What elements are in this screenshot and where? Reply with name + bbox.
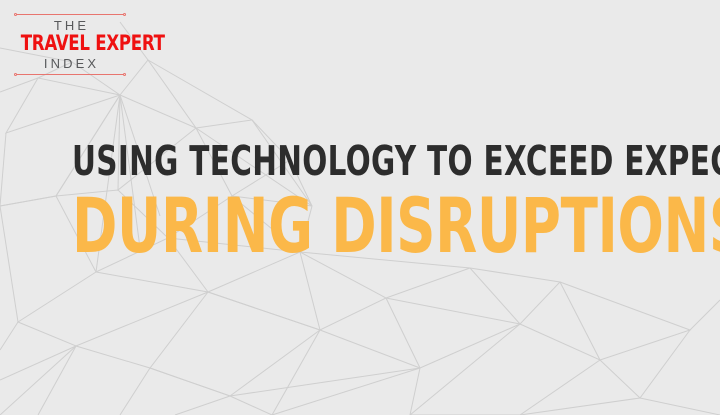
poster-canvas: THE TRAVEL EXPERT INDEX USING TECHNOLOGY… bbox=[0, 0, 720, 415]
logo-wordmark-travel-expert: TRAVEL EXPERT bbox=[21, 33, 120, 55]
logo-bottom-rule-dot-left bbox=[14, 73, 17, 76]
logo-bottom-rule bbox=[14, 73, 126, 76]
headline-block: USING TECHNOLOGY TO EXCEED EXPECTATIONS … bbox=[0, 139, 720, 261]
logo-top-rule bbox=[14, 13, 126, 16]
travel-expert-index-logo: THE TRAVEL EXPERT INDEX bbox=[14, 13, 126, 76]
logo-top-rule-dot-right bbox=[123, 13, 126, 16]
logo-bottom-rule-line bbox=[16, 74, 124, 75]
headline-accent-line: DURING DISRUPTIONS bbox=[72, 191, 648, 261]
logo-top-rule-dot-left bbox=[14, 13, 17, 16]
logo-bottom-rule-dot-right bbox=[123, 73, 126, 76]
logo-top-rule-line bbox=[16, 14, 124, 15]
headline-primary-line: USING TECHNOLOGY TO EXCEED EXPECTATIONS bbox=[72, 139, 648, 183]
logo-subtitle-index: INDEX bbox=[14, 55, 126, 73]
